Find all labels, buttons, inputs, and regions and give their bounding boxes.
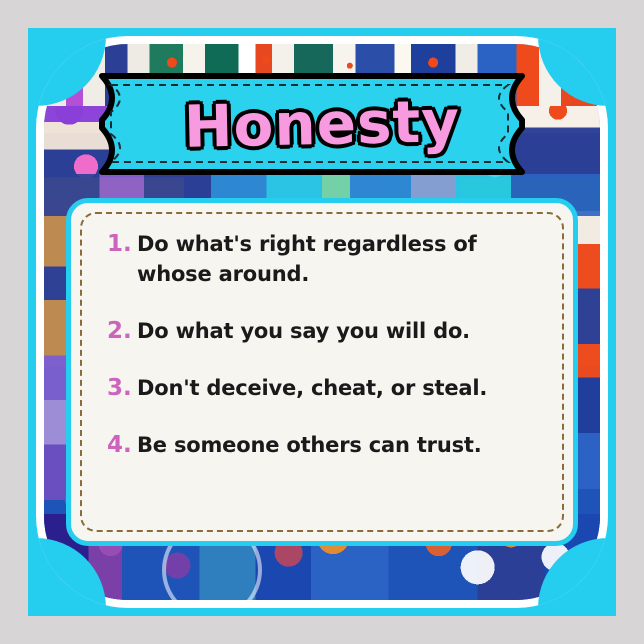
honesty-poster: Honesty 1. Do what's right regardless of… (0, 0, 644, 644)
list-item-text: Do what you say you will do. (137, 316, 545, 346)
list-item-number: 4. (107, 430, 137, 460)
list-item-text: Do what's right regardless of whose arou… (137, 229, 545, 289)
list-item-text: Be someone others can trust. (137, 430, 545, 460)
content-card: 1. Do what's right regardless of whose a… (66, 198, 578, 546)
list-item: 3. Don't deceive, cheat, or steal. (107, 373, 545, 403)
list-item-number: 1. (107, 229, 137, 259)
list-item: 4. Be someone others can trust. (107, 430, 545, 460)
list-item-text: Don't deceive, cheat, or steal. (137, 373, 545, 403)
title-banner: Honesty (98, 72, 546, 176)
list-item: 1. Do what's right regardless of whose a… (107, 229, 545, 289)
list-item: 2. Do what you say you will do. (107, 316, 545, 346)
page-title: Honesty (97, 67, 547, 180)
list-item-number: 2. (107, 316, 137, 346)
list-item-number: 3. (107, 373, 137, 403)
honesty-rules-list: 1. Do what's right regardless of whose a… (107, 229, 545, 523)
